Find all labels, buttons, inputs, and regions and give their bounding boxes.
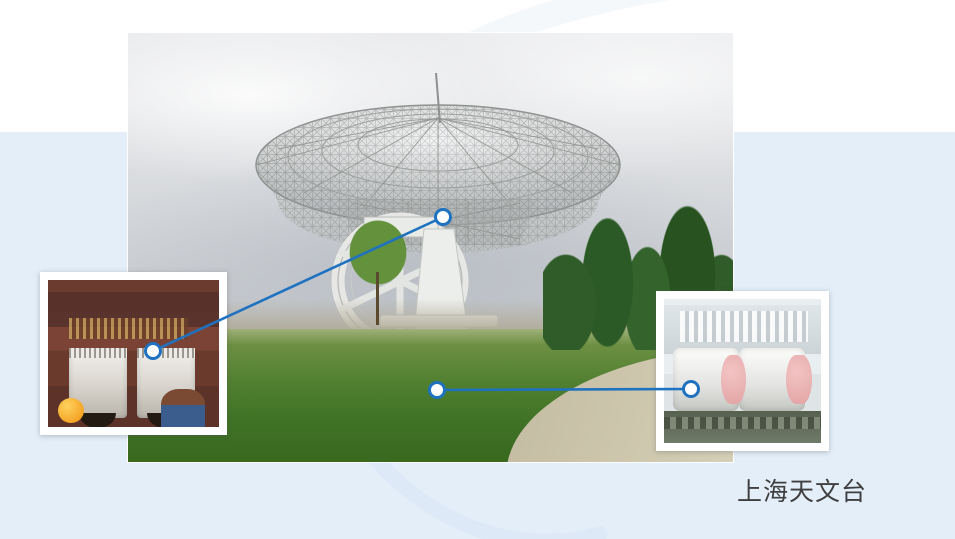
gear-teeth — [69, 318, 189, 339]
orange-sphere — [58, 398, 84, 423]
pink-end-cap-right — [786, 355, 811, 404]
cooling-fins — [680, 311, 809, 343]
page-title: 上海天文台 — [737, 472, 867, 508]
foreground-tree — [333, 215, 423, 325]
worker-figure — [161, 389, 205, 427]
inset-left-image — [48, 280, 219, 427]
pink-end-cap-left — [721, 355, 746, 404]
inset-right-image — [664, 299, 821, 443]
machine-base-rail — [664, 411, 821, 443]
slide-canvas: 上海天文台 — [0, 0, 955, 539]
bearing-assembly-new-photo — [656, 291, 829, 451]
bearing-assembly-old-photo — [40, 272, 227, 435]
